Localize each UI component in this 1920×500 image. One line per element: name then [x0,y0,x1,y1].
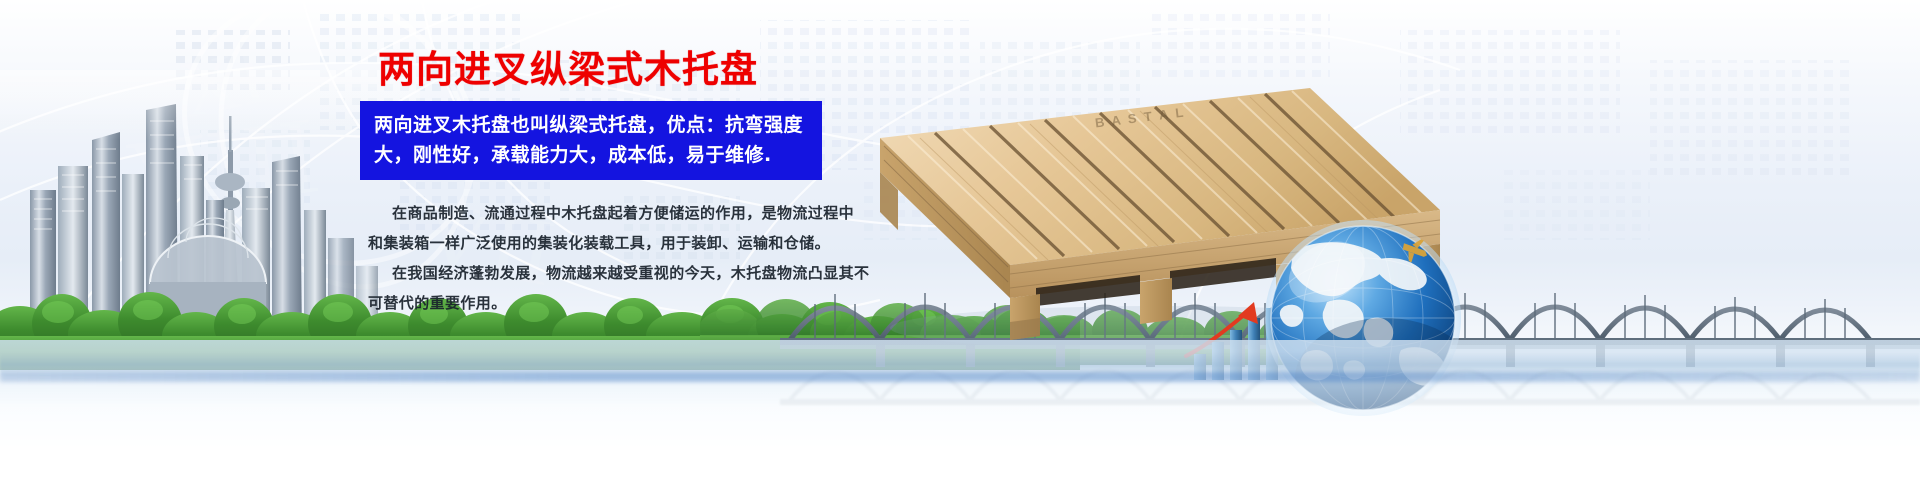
body-copy: 在商品制造、流通过程中木托盘起着方便储运的作用，是物流过程中 和集装箱一样广泛使… [360,198,860,318]
airplane-icon [1398,233,1433,268]
light-swoosh-lines [0,0,1920,340]
body-line-1: 在商品制造、流通过程中木托盘起着方便储运的作用，是物流过程中 [368,198,860,228]
highlight-line-1: 两向进叉木托盘也叫纵梁式托盘，优点：抗弯强度 [374,110,808,140]
body-line-2: 和集装箱一样广泛使用的集装化装载工具，用于装卸、运输和仓储。 [368,228,860,258]
blue-accent-line [0,372,1920,382]
red-up-arrow-icon [1186,302,1258,356]
bridge-reflection [780,340,1920,410]
page-title: 两向进叉纵梁式木托盘 [360,48,860,92]
banner-text-block: 两向进叉纵梁式木托盘 两向进叉木托盘也叫纵梁式托盘，优点：抗弯强度 大，刚性好，… [360,48,860,318]
growth-bar-chart-image [1180,300,1310,380]
svg-text:XI: XI [173,32,274,136]
svg-text:B A S T A L: B A S T A L [1094,104,1186,130]
highlight-line-2: 大，刚性好，承载能力大，成本低，易于维修. [374,140,808,170]
water-streak [0,352,1920,378]
earth-globe-image [1255,210,1475,430]
tech-dot-matrix-texture [0,0,1920,330]
product-banner: VIII XI VII IV [0,0,1920,500]
wooden-pallet-image: B A S T A L [840,60,1460,360]
highlight-callout: 两向进叉木托盘也叫纵梁式托盘，优点：抗弯强度 大，刚性好，承载能力大，成本低，易… [360,101,822,180]
water-reflection-band [0,340,1920,500]
body-line-3: 在我国经济蓬勃发展，物流越来越受重视的今天，木托盘物流凸显其不 [368,258,860,288]
arch-bridge-image [780,248,1920,368]
body-line-4: 可替代的重要作用。 [368,288,860,318]
city-skyline-image [0,70,420,350]
svg-text:VIII: VIII [121,93,325,240]
